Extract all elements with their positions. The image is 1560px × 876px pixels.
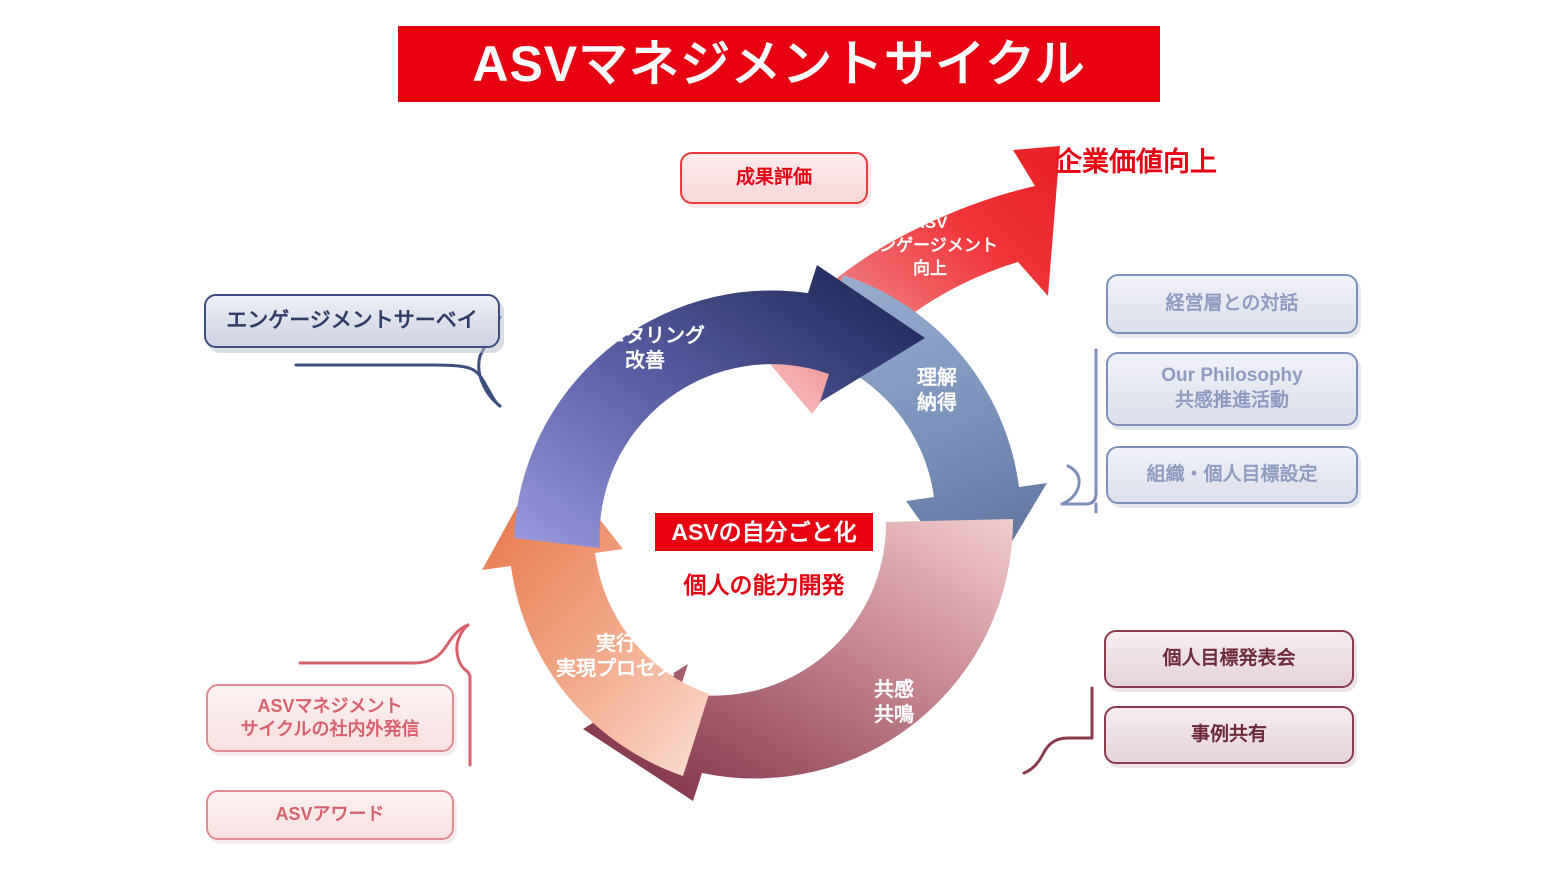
callout-goal-setting-label: 組織・個人目標設定 (1146, 463, 1317, 488)
bracket-right-top (1062, 350, 1096, 512)
center-banner-text: ASVの自分ごと化 (671, 521, 856, 544)
callout-asv-award-label: ASVアワード (275, 803, 384, 826)
callout-internal-communication-line2: サイクルの社内外発信 (240, 718, 419, 741)
callout-engagement-survey[interactable]: エンゲージメントサーベイ (204, 294, 500, 348)
callout-philosophy[interactable]: Our Philosophy 共感推進活動 (1106, 352, 1358, 426)
callout-internal-communication-text: ASVマネジメント サイクルの社内外発信 (240, 695, 419, 742)
callout-case-sharing-label: 事例共有 (1191, 723, 1267, 748)
center-subtitle: 個人の能力開発 (655, 566, 873, 600)
callout-asv-award[interactable]: ASVアワード (206, 790, 454, 840)
callout-internal-communication[interactable]: ASVマネジメント サイクルの社内外発信 (206, 684, 454, 752)
center-banner: ASVの自分ごと化 (655, 513, 873, 551)
callout-philosophy-line1: Our Philosophy (1161, 364, 1302, 389)
callout-philosophy-line2: 共感推進活動 (1161, 389, 1302, 414)
diagram-canvas: ASVマネジメントサイクル 企業価値向上 (0, 0, 1560, 876)
callout-goal-presentation[interactable]: 個人目標発表会 (1104, 630, 1354, 688)
bracket-right-bottom (1024, 688, 1092, 773)
callout-engagement-survey-label: エンゲージメントサーベイ (226, 307, 478, 334)
callout-goal-presentation-label: 個人目標発表会 (1162, 647, 1295, 672)
cycle-segment-monitoring (514, 265, 925, 548)
callout-seika-hyouka[interactable]: 成果評価 (680, 152, 868, 204)
callout-philosophy-text: Our Philosophy 共感推進活動 (1161, 364, 1302, 413)
callout-goal-setting[interactable]: 組織・個人目標設定 (1106, 446, 1358, 504)
callout-internal-communication-line1: ASVマネジメント (240, 695, 419, 718)
callout-case-sharing[interactable]: 事例共有 (1104, 706, 1354, 764)
callout-dialogue[interactable]: 経営層との対話 (1106, 274, 1358, 334)
callout-dialogue-label: 経営層との対話 (1166, 292, 1299, 317)
callout-seika-hyouka-label: 成果評価 (736, 166, 812, 191)
